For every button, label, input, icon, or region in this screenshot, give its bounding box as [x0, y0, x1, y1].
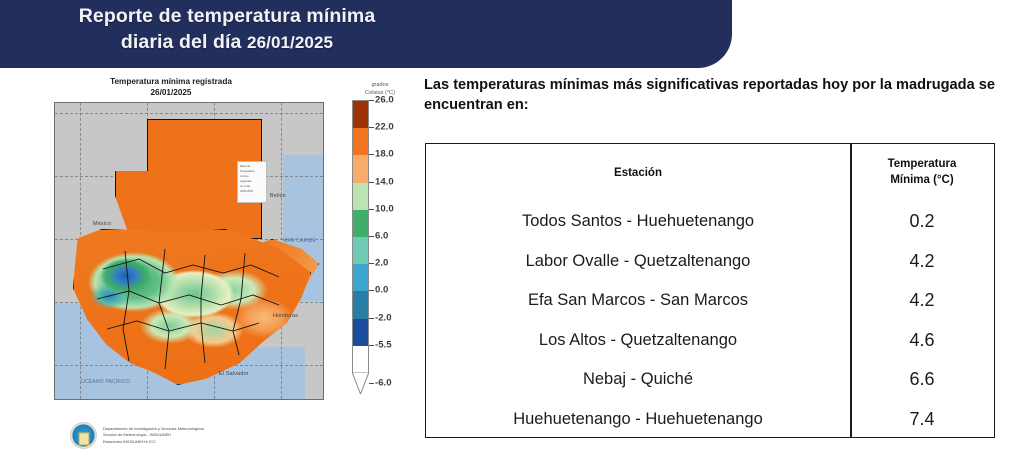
colorbar-label-14: 14.0: [375, 176, 394, 187]
table-row: Labor Ovalle - Quetzaltenango 4.2: [426, 242, 994, 282]
colorbar-tickmark-14: [369, 182, 374, 183]
colorbar-tickmark-6: [369, 236, 374, 237]
colorbar-band-0-2: [353, 264, 368, 291]
colorbar-tickmark-n6: [369, 383, 374, 384]
colorbar-tickmark-n2: [369, 318, 374, 319]
column-header-temperatura-line1: Temperatura: [888, 158, 957, 170]
colorbar-tickmark-n55: [369, 345, 374, 346]
cell-station: Los Altos - Quetzaltenango: [426, 321, 850, 361]
table-row: Todos Santos - Huehuetenango 0.2: [426, 202, 994, 242]
table-row: Efa San Marcos - San Marcos 4.2: [426, 281, 994, 321]
cell-temperature: 7.4: [850, 400, 994, 440]
insivumeh-logo-icon: [70, 422, 97, 449]
map-axes: México Belice Honduras El Salvador OCÉAN…: [54, 102, 324, 400]
colorbar-label-22: 22.0: [375, 122, 394, 133]
cell-station: Labor Ovalle - Quetzaltenango: [426, 242, 850, 282]
colorbar-label-2: 2.0: [375, 258, 388, 269]
table-header-row: Estación Temperatura Mínima (°C): [426, 144, 994, 202]
page-title-line1: Reporte de temperatura mínima: [79, 5, 376, 27]
cell-temperature: 4.2: [850, 281, 994, 321]
map-title: Temperatura mínima registrada 26/01/2025: [46, 76, 296, 98]
inset-note-line-6: 26/01/2025: [240, 190, 264, 195]
colorbar-band-10-14: [353, 183, 368, 210]
colorbar-extend-arrow-outline: [352, 372, 369, 394]
column-header-estacion: Estación: [426, 144, 850, 202]
column-header-temperatura-line2: Mínima (°C): [890, 174, 953, 186]
colorbar-tickmark-0: [369, 290, 374, 291]
table-row: Huehuetenango - Huehuetenango 7.4: [426, 400, 994, 440]
label-mar-caribe: MAR CARIBE: [283, 238, 316, 244]
map-figure: Temperatura mínima registrada 26/01/2025: [6, 70, 416, 451]
colorbar-gradient: [352, 100, 369, 372]
colorbar-label-n6: -6.0: [375, 378, 392, 389]
colorbar-label-6: 6.0: [375, 231, 388, 242]
stations-table: Estación Temperatura Mínima (°C) Todos S…: [425, 143, 995, 438]
column-header-temperatura: Temperatura Mínima (°C): [850, 144, 994, 202]
map-title-line1: Temperatura mínima registrada: [110, 77, 232, 86]
intro-text: Las temperaturas mínimas más significati…: [424, 76, 1002, 115]
cell-station: Efa San Marcos - San Marcos: [426, 281, 850, 321]
label-honduras: Honduras: [273, 313, 298, 319]
colorbar-tickmark-2: [369, 263, 374, 264]
colorbar-label-10: 10.0: [375, 203, 394, 214]
colorbar-band-14-18: [353, 155, 368, 182]
map-credits: Departamento de Investigación y Servicio…: [70, 422, 204, 449]
colorbar-label-n55: -5.5: [375, 339, 392, 350]
cell-temperature: 4.2: [850, 242, 994, 282]
credit-line-3: Estaciones INSIVUMEH e ICC: [103, 439, 204, 445]
page-title: Reporte de temperatura mínima diaria del…: [22, 4, 432, 55]
colorbar-band-6-10: [353, 210, 368, 237]
cell-temperature: 0.2: [850, 202, 994, 242]
raster-northwest-region: [115, 171, 175, 233]
colorbar-tickmark-18: [369, 154, 374, 155]
report-date: 26/01/2025: [247, 33, 333, 52]
colorbar-tickmark-22: [369, 127, 374, 128]
colorbar-band-n2-0: [353, 291, 368, 318]
colorbar-label-n2: -2.0: [375, 312, 392, 323]
colorbar-label-18: 18.0: [375, 149, 394, 160]
colorbar-band-18-22: [353, 128, 368, 155]
colorbar-band-below-n55: [353, 346, 368, 373]
page-title-line2: diaria del día: [121, 31, 247, 53]
table-row: Nebaj - Quiché 6.6: [426, 360, 994, 400]
label-mexico: México: [93, 221, 111, 227]
colorbar-tickmark-26: [369, 100, 374, 101]
colorbar-label-0: 0.0: [375, 285, 388, 296]
label-ocean-pacific: OCÉANO PACÍFICO: [81, 379, 130, 385]
colorbar-band-n55-n2: [353, 319, 368, 346]
cell-station: Nebaj - Quiché: [426, 360, 850, 400]
colorbar-tickmark-10: [369, 209, 374, 210]
cell-temperature: 6.6: [850, 360, 994, 400]
colorbar-title-line1: grados: [371, 82, 388, 88]
cell-station: Huehuetenango - Huehuetenango: [426, 400, 850, 440]
colorbar-band-22-26: [353, 101, 368, 128]
raster-highlands-region: [73, 229, 311, 385]
temperature-raster: [55, 103, 324, 400]
map-inset-note: Mapa de Temperatura mínima registrada en…: [237, 161, 267, 203]
credit-text: Departamento de Investigación y Servicio…: [103, 426, 204, 445]
table-column-divider: [850, 144, 852, 437]
cell-station: Todos Santos - Huehuetenango: [426, 202, 850, 242]
colorbar-label-26: 26.0: [375, 95, 394, 106]
report-page: Reporte de temperatura mínima diaria del…: [0, 0, 1024, 451]
cell-temperature: 4.6: [850, 321, 994, 361]
header-banner: Reporte de temperatura mínima diaria del…: [0, 0, 732, 68]
table-row: Los Altos - Quetzaltenango 4.6: [426, 321, 994, 361]
label-belice: Belice: [270, 193, 286, 199]
colorbar-band-2-6: [353, 237, 368, 264]
label-el-salvador: El Salvador: [219, 371, 249, 377]
colorbar: grados Celsius (°C): [346, 100, 416, 400]
map-title-line2: 26/01/2025: [151, 88, 192, 97]
